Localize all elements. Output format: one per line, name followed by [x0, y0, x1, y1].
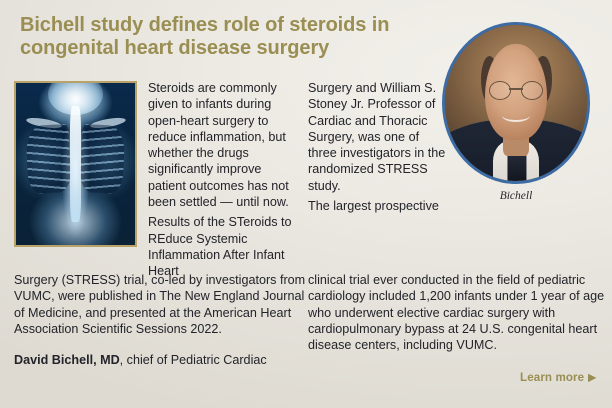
xray-spine	[70, 106, 82, 223]
portrait-block: Bichell	[440, 22, 592, 202]
paragraph: The largest prospective	[308, 198, 450, 214]
learn-more-link[interactable]: Learn more▶	[520, 371, 596, 384]
headline-line-1: Bichell study defines role of steroids i…	[20, 14, 440, 37]
article-card: Bichell study defines role of steroids i…	[0, 0, 612, 408]
byline-text: David Bichell, MD, chief of Pediatric Ca…	[14, 352, 434, 368]
headline-line-2: congenital heart disease surgery	[20, 37, 440, 60]
chevron-right-icon: ▶	[588, 373, 596, 384]
body-column-right: Surgery and William S. Stoney Jr. Profes…	[308, 80, 450, 214]
body-continuation-left: Surgery (STRESS) trial, co-led by invest…	[14, 272, 312, 337]
byline-role: , chief of Pediatric Cardiac	[120, 353, 267, 367]
glasses-bridge-icon	[509, 88, 523, 90]
byline: David Bichell, MD, chief of Pediatric Ca…	[14, 352, 434, 368]
body-column-left: Steroids are commonly given to infants d…	[148, 80, 298, 280]
byline-name: David Bichell, MD	[14, 353, 120, 367]
xray-image	[14, 81, 137, 247]
portrait-photo	[442, 22, 590, 184]
paragraph: clinical trial ever conducted in the fie…	[308, 272, 606, 353]
paragraph: Results of the STeroids to REduce System…	[148, 214, 298, 279]
paragraph: Surgery (STRESS) trial, co-led by invest…	[14, 272, 312, 337]
xray-ribs-right	[80, 124, 126, 194]
learn-more-label: Learn more	[520, 371, 584, 384]
portrait-caption: Bichell	[440, 190, 592, 202]
page-title: Bichell study defines role of steroids i…	[20, 14, 440, 60]
xray-ribs-left	[25, 124, 71, 194]
body-continuation-right: clinical trial ever conducted in the fie…	[308, 272, 606, 353]
paragraph: Steroids are commonly given to infants d…	[148, 80, 298, 210]
paragraph: Surgery and William S. Stoney Jr. Profes…	[308, 80, 450, 194]
